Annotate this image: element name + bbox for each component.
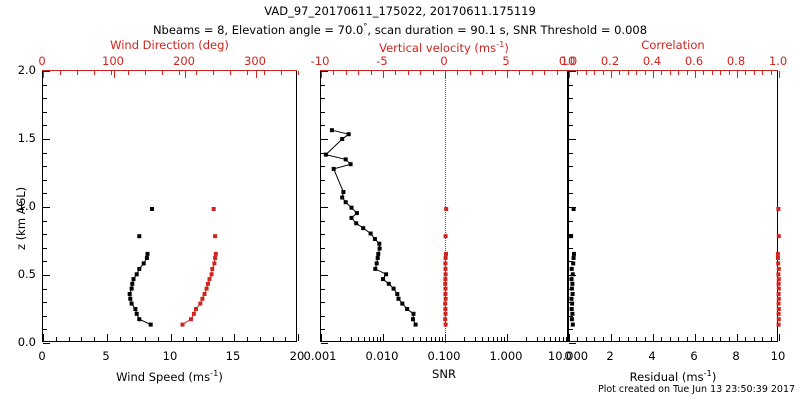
xtick-label-top-residual-3: 0.6 [685, 56, 703, 68]
data-point [369, 232, 373, 236]
data-point [130, 287, 134, 291]
y-axis-label: z (km AGL) [14, 187, 28, 250]
data-point [210, 267, 214, 271]
data-point [341, 190, 345, 194]
data-point [212, 207, 216, 211]
data-point [373, 267, 377, 271]
data-point [444, 272, 448, 276]
xtick-label-bottom-snr-2: 0.100 [428, 351, 461, 363]
data-point [570, 312, 574, 316]
data-point [330, 128, 334, 132]
xtick-label-top-snr-0: -10 [311, 56, 330, 68]
xtick-label-top-snr-3: 5 [502, 56, 509, 68]
data-point [444, 323, 448, 327]
x-axis-label-top-residual: Correlation [641, 40, 704, 52]
data-point [135, 312, 139, 316]
xtick-label-bottom-wind-0: 0 [38, 351, 45, 363]
data-point [570, 277, 574, 281]
data-point [373, 237, 377, 241]
xtick-label-bottom-snr-1: 0.010 [366, 351, 399, 363]
data-point [392, 287, 396, 291]
data-point [572, 207, 576, 211]
data-point [387, 282, 391, 286]
data-point [213, 256, 217, 260]
title-line-2-prefix: Nbeams = 8, Elevation angle = 70.0 [153, 23, 363, 37]
data-point [400, 302, 404, 306]
data-point [181, 323, 185, 327]
data-point [443, 307, 447, 311]
data-point [571, 272, 575, 276]
data-point [137, 267, 141, 271]
data-point [776, 207, 780, 211]
data-point [130, 302, 134, 306]
xtick-label-top-residual-4: 0.8 [727, 56, 745, 68]
data-point [332, 167, 336, 171]
data-point [776, 261, 780, 265]
x-axis-label-bottom-wind: Wind Speed (ms-1) [116, 369, 223, 383]
data-point [324, 153, 328, 157]
xtick-minor-top-wind [298, 71, 299, 75]
data-point [137, 317, 141, 321]
figure-title-line-1: VAD_97_20170611_175022, 20170611.175119 [264, 6, 536, 18]
data-point [145, 256, 149, 260]
footer-timestamp: Plot created on Tue Jun 13 23:50:39 2017 [598, 385, 795, 395]
data-point [444, 256, 448, 260]
ytick-label-1: 0.5 [18, 269, 36, 281]
data-point [212, 261, 216, 265]
ytick-label-2: 1.0 [18, 201, 36, 213]
xtick-label-bottom-residual-2: 4 [648, 351, 655, 363]
data-point [208, 277, 212, 281]
data-point [777, 302, 781, 306]
xtick-label-top-wind-1: 100 [102, 56, 124, 68]
data-layer-snr [321, 71, 569, 343]
data-point [443, 317, 447, 321]
xtick-label-bottom-residual-0: 0 [564, 351, 571, 363]
data-point [135, 272, 139, 276]
data-point [414, 323, 418, 327]
data-point [146, 252, 150, 256]
xtick-label-bottom-snr-3: 1.000 [490, 351, 523, 363]
xtick-minor-wind [298, 337, 299, 341]
data-point [349, 162, 353, 166]
data-point [205, 287, 209, 291]
data-point [444, 312, 448, 316]
data-point [128, 297, 132, 301]
data-point [777, 312, 781, 316]
data-point [777, 282, 781, 286]
ytick-label-4: 2.0 [18, 65, 36, 77]
data-point [443, 302, 447, 306]
data-point [443, 277, 447, 281]
xtick-label-top-residual-2: 0.4 [643, 56, 661, 68]
xtick-label-top-snr-1: -5 [376, 56, 387, 68]
data-point [776, 272, 780, 276]
ytick-label-3: 1.5 [18, 133, 36, 145]
xtick-label-top-residual-5: 1.0 [769, 56, 787, 68]
data-point [214, 252, 218, 256]
data-point [570, 307, 574, 311]
data-point [194, 307, 198, 311]
data-point [444, 297, 448, 301]
data-layer-wind [43, 71, 298, 343]
plot-panel-snr [320, 70, 568, 342]
data-point [443, 292, 447, 296]
data-point [569, 234, 573, 238]
data-point [572, 256, 576, 260]
data-point [384, 272, 388, 276]
data-point [344, 200, 348, 204]
data-point [777, 323, 781, 327]
data-point [133, 307, 137, 311]
data-point [777, 234, 781, 238]
vad-profile-figure: VAD_97_20170611_175022, 20170611.175119 … [0, 0, 800, 400]
xtick-label-top-snr-2: 0 [440, 56, 447, 68]
data-point [777, 292, 781, 296]
xtick-label-top-residual-0: 0.0 [559, 56, 577, 68]
data-point [444, 252, 448, 256]
xtick-label-bottom-wind-1: 5 [102, 351, 109, 363]
data-point [570, 317, 574, 321]
data-point [570, 287, 574, 291]
data-point [142, 261, 146, 265]
data-point [776, 252, 780, 256]
data-point [376, 256, 380, 260]
data-point [777, 287, 781, 291]
series-line-snr [326, 130, 416, 324]
plot-panel-residual [568, 70, 778, 342]
xtick-label-bottom-wind-4: 20 [290, 351, 305, 363]
data-point [570, 282, 574, 286]
data-point [412, 312, 416, 316]
data-point [381, 277, 385, 281]
data-point [378, 247, 382, 251]
data-point [444, 287, 448, 291]
data-point [411, 317, 415, 321]
data-point [444, 234, 448, 238]
data-point [344, 157, 348, 161]
x-axis-label-top-wind: Wind Direction (deg) [110, 40, 229, 52]
xtick-label-bottom-wind-3: 15 [226, 351, 241, 363]
xtick-label-top-wind-0: 0 [38, 56, 45, 68]
data-point [777, 307, 781, 311]
xtick-label-top-residual-1: 0.2 [601, 56, 619, 68]
data-layer-residual [569, 71, 779, 343]
data-point [776, 256, 780, 260]
xtick-label-bottom-residual-3: 6 [690, 351, 697, 363]
data-point [570, 302, 574, 306]
xtick-label-top-wind-2: 200 [173, 56, 195, 68]
data-point [777, 277, 781, 281]
data-point [777, 297, 781, 301]
xtick-minor-residual [779, 337, 780, 341]
data-point [340, 137, 344, 141]
xtick-minor-top-residual [779, 71, 780, 75]
data-point [189, 317, 193, 321]
data-point [571, 323, 575, 327]
data-point [213, 234, 217, 238]
data-point [777, 317, 781, 321]
ytick-minor-snr [321, 343, 325, 344]
data-point [354, 221, 358, 225]
xtick-label-bottom-snr-0: 0.001 [304, 351, 337, 363]
xtick-label-bottom-residual-4: 8 [732, 351, 739, 363]
data-point [361, 226, 365, 230]
data-point [377, 242, 381, 246]
data-point [206, 282, 210, 286]
data-point [444, 207, 448, 211]
x-axis-label-bottom-snr: SNR [432, 369, 456, 381]
ytick-minor-residual [569, 343, 573, 344]
x-axis-label-top-snr: Vertical velocity (ms-1) [379, 40, 509, 54]
data-point [210, 272, 214, 276]
data-point [443, 261, 447, 265]
data-point [130, 282, 134, 286]
xtick-label-top-wind-3: 300 [244, 56, 266, 68]
data-point [137, 234, 141, 238]
xtick-label-bottom-residual-5: 10 [771, 351, 786, 363]
data-point [375, 261, 379, 265]
data-point [203, 292, 207, 296]
data-point [340, 196, 344, 200]
data-point [355, 211, 359, 215]
data-point [149, 323, 153, 327]
ytick-label-0: 0.0 [18, 337, 36, 349]
data-point [132, 277, 136, 281]
data-point [572, 252, 576, 256]
plot-panel-wind [42, 70, 297, 342]
xtick-label-bottom-residual-1: 2 [606, 351, 613, 363]
series-line-wind-direction [183, 254, 216, 325]
data-point [198, 302, 202, 306]
data-point [128, 292, 132, 296]
data-point [150, 207, 154, 211]
data-point [395, 292, 399, 296]
data-point [570, 297, 574, 301]
data-point [571, 292, 575, 296]
data-point [405, 307, 409, 311]
figure-title-line-2: Nbeams = 8, Elevation angle = 70.0°, sca… [153, 22, 647, 36]
data-point [192, 312, 196, 316]
data-point [376, 252, 380, 256]
data-point [443, 282, 447, 286]
data-point [444, 267, 448, 271]
data-point [397, 297, 401, 301]
data-point [571, 261, 575, 265]
title-line-2-suffix: , scan duration = 90.1 s, SNR Threshold … [367, 23, 647, 37]
ytick-minor-wind [43, 343, 47, 344]
data-point [777, 267, 781, 271]
data-point [570, 267, 574, 271]
xtick-label-bottom-wind-2: 10 [163, 351, 178, 363]
data-point [350, 216, 354, 220]
data-point [350, 206, 354, 210]
data-point [347, 132, 351, 136]
data-point [200, 297, 204, 301]
x-axis-label-bottom-residual: Residual (ms-1) [630, 369, 717, 383]
